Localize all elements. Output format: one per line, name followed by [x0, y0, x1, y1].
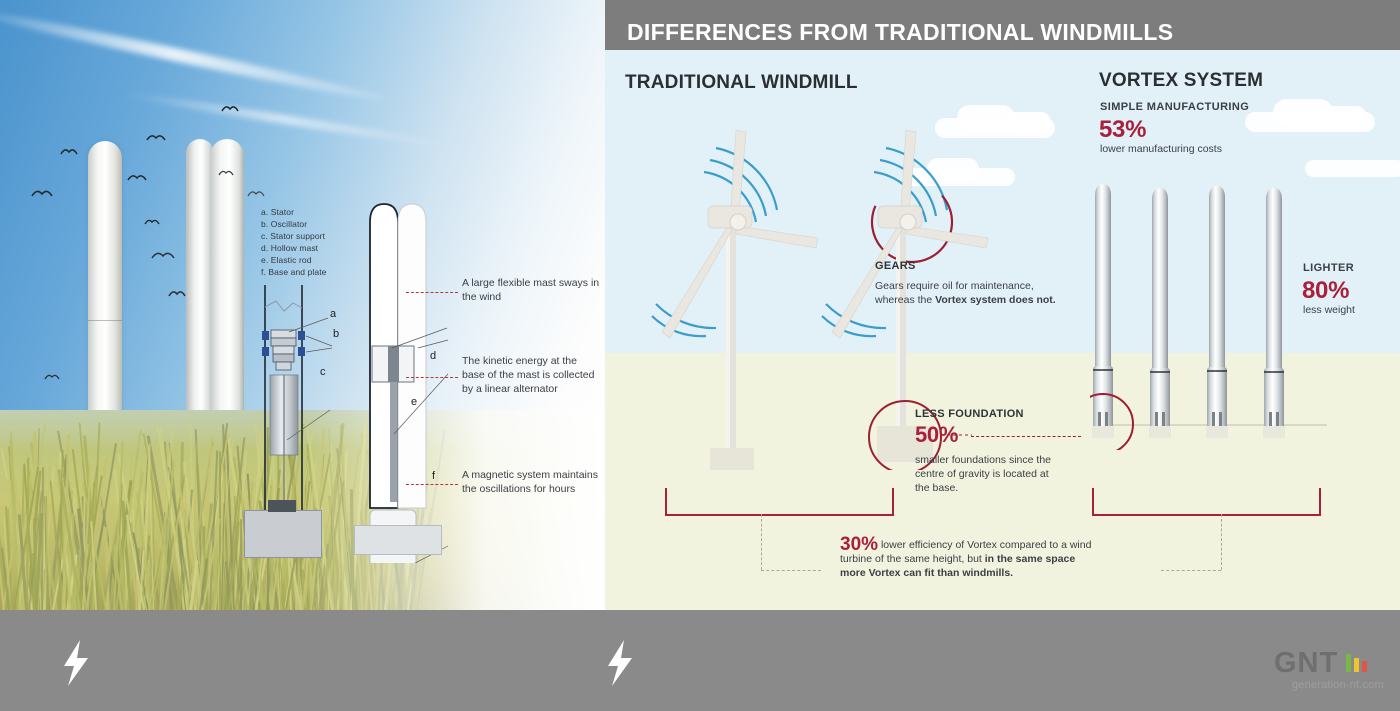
cloud-shape: [1317, 106, 1367, 127]
bird-icon: [44, 368, 60, 386]
span-bracket-vortex: [1092, 488, 1321, 516]
gears-text-bold: Vortex system does not.: [935, 294, 1056, 306]
gnt-logo[interactable]: GNT: [1274, 648, 1386, 683]
svg-text:GNT: GNT: [1274, 648, 1338, 678]
bird-icon: [168, 285, 186, 303]
foundation-value: 50%: [915, 422, 958, 448]
vortex-mast-group: [1090, 180, 1340, 450]
foundation-line2: centre of gravity is located at: [915, 467, 1049, 481]
manufacturing-subtext: lower manufacturing costs: [1100, 143, 1222, 156]
bird-icon: [146, 130, 166, 148]
part-label-a: a: [330, 308, 336, 320]
efficiency-line2: turbine of the same height, but in the s…: [840, 552, 1170, 566]
efficiency-callout: 30% lower efficiency of Vortex compared …: [840, 538, 1170, 580]
footer-bar: GENERATED POWER VORTEX of 13 m 4 kW 1 HO…: [0, 610, 1400, 711]
right-comparison-panel: DIFFERENCES FROM TRADITIONAL WINDMILLS T…: [605, 0, 1400, 610]
gnt-logo-subtitle: generation-nt.com: [1292, 679, 1384, 691]
bracket-dash-right: [1221, 514, 1222, 570]
cloud-shape: [1305, 160, 1400, 177]
foundation-line1: smaller foundations since the: [915, 453, 1051, 467]
annotation-flexible-mast: A large flexible mast sways in the wind: [462, 276, 602, 304]
diagram-base-block-middle: [244, 510, 322, 558]
annotation-connector-3: [406, 484, 458, 485]
cloud-shape: [1003, 112, 1051, 132]
bird-icon: [218, 164, 234, 182]
part-label-e: e: [411, 396, 417, 408]
bird-icon: [127, 170, 147, 188]
foundation-dash-connector: [971, 436, 1081, 437]
manufacturing-value: 53%: [1099, 116, 1146, 144]
gears-heading: GEARS: [875, 260, 916, 272]
section-title-traditional: TRADITIONAL WINDMILL: [625, 72, 858, 94]
efficiency-line2-bold: in the same space: [985, 553, 1075, 565]
legend-item: d. Hollow mast: [261, 242, 327, 254]
photo-mast-left-seam: [88, 320, 122, 321]
part-label-f: f: [432, 470, 435, 482]
gears-text-line2: whereas the Vortex system does not.: [875, 293, 1056, 307]
infographic-root: a b c d e f: [0, 0, 1400, 711]
bird-icon: [144, 213, 160, 231]
bracket-dash-right-h: [1161, 570, 1221, 571]
bird-icon: [247, 185, 265, 203]
bird-icon: [221, 100, 239, 118]
bird-icon: [60, 143, 78, 161]
annotation-connector-2: [406, 377, 458, 378]
left-photo-panel: a b c d e f: [0, 0, 605, 610]
efficiency-line3: more Vortex can fit than windmills.: [840, 566, 1170, 580]
gears-text-line1: Gears require oil for maintenance,: [875, 279, 1034, 293]
annotation-magnetic-system: A magnetic system maintains the oscillat…: [462, 468, 602, 496]
efficiency-line1: 30% lower efficiency of Vortex compared …: [840, 538, 1170, 552]
legend-item: a. Stator: [261, 206, 327, 218]
diagram-base-plate-middle: [268, 500, 296, 512]
part-label-d: d: [430, 350, 436, 362]
bracket-dash-left-h: [761, 570, 821, 571]
gears-text-prefix: whereas the: [875, 294, 935, 306]
legend-item: b. Oscillator: [261, 218, 327, 230]
legend-item: c. Stator support: [261, 230, 327, 242]
lightning-bolt-icon: [606, 640, 636, 686]
annotation-connector-1: [406, 292, 458, 293]
cutaway-diagram-right: [352, 198, 462, 563]
diagram-base-plate-right: [354, 525, 442, 555]
part-label-b: b: [333, 328, 339, 340]
section-title-vortex: VORTEX SYSTEM: [1099, 70, 1263, 92]
annotation-kinetic-energy: The kinetic energy at the base of the ma…: [462, 354, 602, 397]
bird-icon: [31, 186, 53, 204]
part-label-c: c: [320, 366, 326, 378]
span-bracket-traditional: [665, 488, 894, 516]
parts-legend: a. Stator b. Oscillator c. Stator suppor…: [261, 206, 327, 279]
page-title: DIFFERENCES FROM TRADITIONAL WINDMILLS: [627, 19, 1173, 46]
efficiency-line1-text: lower efficiency of Vortex compared to a…: [878, 539, 1091, 551]
efficiency-line2-prefix: turbine of the same height, but: [840, 553, 985, 565]
bracket-dash-left: [761, 514, 762, 570]
bird-icon: [151, 248, 175, 266]
foundation-line3: the base.: [915, 481, 958, 495]
footer-group-vortex-150m: GENERATED POWER VOLTEX of 150 m 1 MW 400…: [0, 610, 1200, 711]
legend-item: f. Base and plate: [261, 266, 327, 278]
legend-item: e. Elastic rod: [261, 254, 327, 266]
manufacturing-heading: SIMPLE MANUFACTURING: [1100, 101, 1249, 113]
foundation-heading: LESS FOUNDATION: [915, 408, 1024, 420]
